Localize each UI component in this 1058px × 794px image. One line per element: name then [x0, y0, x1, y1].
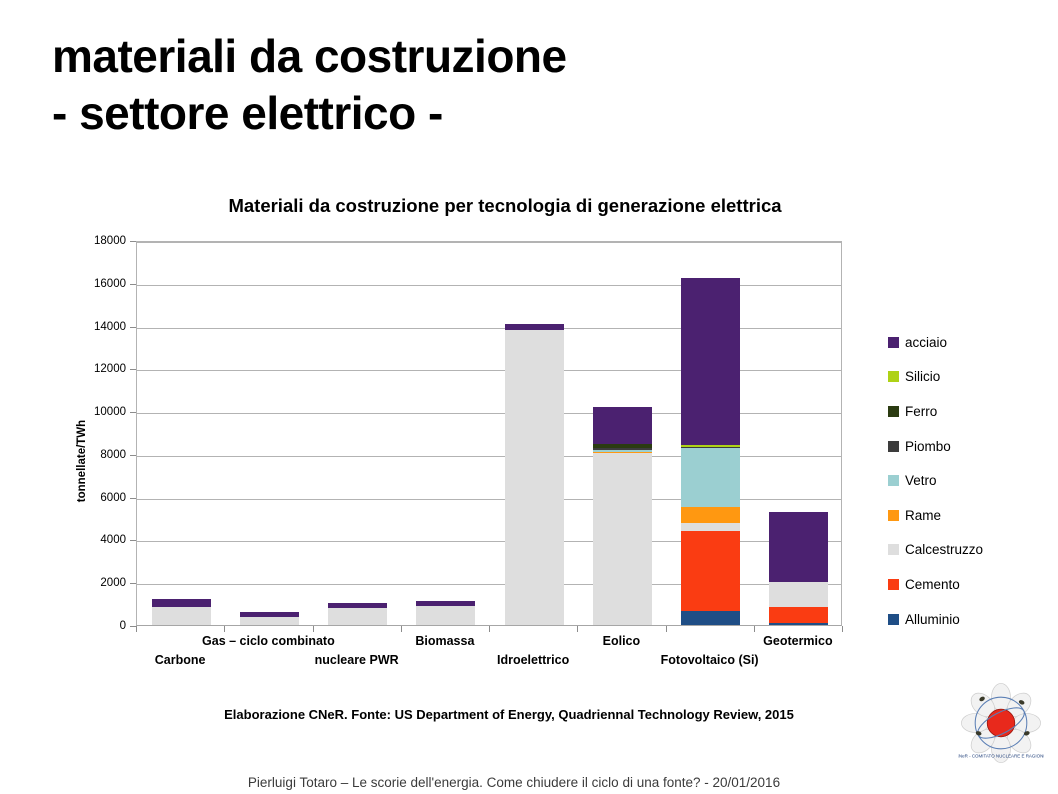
x-axis-label-eolico: Eolico: [603, 634, 641, 648]
legend-item-label: Vetro: [905, 473, 937, 488]
legend-swatch-icon: [888, 510, 899, 521]
legend-swatch-icon: [888, 371, 899, 382]
x-axis-tick-mark: [754, 626, 755, 632]
bar-segment[interactable]: [240, 617, 299, 625]
y-axis-tick-label: 6000: [66, 492, 126, 504]
page-title: materiali da costruzione - settore elett…: [52, 28, 952, 142]
legend-item-label: Rame: [905, 508, 941, 523]
legend-swatch-icon: [888, 406, 899, 417]
x-axis-label-idroelettrico: Idroelettrico: [497, 653, 569, 667]
x-axis-tick-mark: [577, 626, 578, 632]
bar-segment[interactable]: [328, 608, 387, 625]
bar-segment[interactable]: [505, 330, 564, 625]
x-axis-label-nucleare-pwr: nucleare PWR: [315, 653, 399, 667]
page-title-line-2: - settore elettrico -: [52, 85, 952, 142]
bar-segment[interactable]: [681, 448, 740, 508]
bar-stack[interactable]: [681, 278, 740, 626]
legend-item-label: Alluminio: [905, 612, 960, 627]
x-axis-tick-mark: [313, 626, 314, 632]
y-axis-tick-label: 12000: [66, 363, 126, 375]
bar-segment[interactable]: [593, 453, 652, 625]
legend-item-label: Calcestruzzo: [905, 542, 983, 557]
legend-item-label: Piombo: [905, 439, 951, 454]
y-axis-tick-label: 18000: [66, 235, 126, 247]
x-axis-tick-mark: [489, 626, 490, 632]
bar-segment[interactable]: [152, 599, 211, 607]
legend-item-label: acciaio: [905, 335, 947, 350]
legend-swatch-icon: [888, 579, 899, 590]
legend-item-silicio[interactable]: Silicio: [888, 360, 1058, 395]
svg-text:CNeR - COMITATO NUCLEARE E RAG: CNeR - COMITATO NUCLEARE E RAGIONE: [958, 753, 1044, 758]
bar-segment[interactable]: [681, 278, 740, 446]
x-axis-tick-mark: [136, 626, 137, 632]
x-axis-tick-mark: [666, 626, 667, 632]
x-axis-tick-mark: [401, 626, 402, 632]
bar-segment[interactable]: [681, 531, 740, 611]
chart-container: Materiali da costruzione per tecnologia …: [0, 185, 1058, 745]
x-axis-label-geotermico: Geotermico: [763, 634, 832, 648]
bar-segment[interactable]: [769, 512, 828, 583]
bar-stack[interactable]: [152, 599, 211, 625]
legend-item-alluminio[interactable]: Alluminio: [888, 602, 1058, 637]
legend-item-label: Ferro: [905, 404, 937, 419]
bar-segment[interactable]: [593, 407, 652, 444]
bar-stack[interactable]: [240, 612, 299, 625]
legend-item-label: Cemento: [905, 577, 960, 592]
legend-item-rame[interactable]: Rame: [888, 498, 1058, 533]
chart-title: Materiali da costruzione per tecnologia …: [0, 195, 1058, 217]
legend-item-calcestruzzo[interactable]: Calcestruzzo: [888, 533, 1058, 568]
x-axis-label-fotovoltaico-si: Fotovoltaico (Si): [661, 653, 759, 667]
legend-swatch-icon: [888, 544, 899, 555]
y-axis-tick-label: 0: [66, 620, 126, 632]
x-axis-tick-mark: [224, 626, 225, 632]
bar-segment[interactable]: [681, 611, 740, 625]
legend-item-acciaio[interactable]: acciaio: [888, 325, 1058, 360]
y-axis-tick-label: 8000: [66, 449, 126, 461]
bar-stack[interactable]: [505, 324, 564, 625]
x-axis-label-gas-ciclo-combinato: Gas – ciclo combinato: [202, 634, 335, 648]
legend-swatch-icon: [888, 475, 899, 486]
bar-segment[interactable]: [769, 582, 828, 607]
cner-daisy-logo: CNeR - COMITATO NUCLEARE E RAGIONE: [958, 680, 1044, 766]
chart-legend: acciaioSilicioFerroPiomboVetroRameCalces…: [888, 325, 1058, 636]
y-axis-title: tonnellate/TWh: [76, 371, 88, 551]
bar-segment[interactable]: [769, 607, 828, 623]
bar-segment[interactable]: [769, 623, 828, 625]
bar-stack[interactable]: [769, 512, 828, 625]
legend-swatch-icon: [888, 337, 899, 348]
gridline: [137, 242, 841, 243]
bar-segment[interactable]: [681, 507, 740, 523]
legend-item-piombo[interactable]: Piombo: [888, 429, 1058, 464]
y-axis-tick-label: 4000: [66, 534, 126, 546]
bar-segment[interactable]: [681, 523, 740, 530]
page-title-line-1: materiali da costruzione: [52, 28, 952, 85]
legend-item-label: Silicio: [905, 369, 940, 384]
y-axis-tick-label: 2000: [66, 577, 126, 589]
bar-stack[interactable]: [593, 407, 652, 625]
slide-footer: Pierluigi Totaro – Le scorie dell'energi…: [0, 775, 1058, 790]
y-axis-tick-label: 16000: [66, 278, 126, 290]
bar-stack[interactable]: [328, 603, 387, 625]
legend-swatch-icon: [888, 441, 899, 452]
source-note: Elaborazione CNeR. Fonte: US Department …: [0, 707, 1058, 722]
legend-item-vetro[interactable]: Vetro: [888, 463, 1058, 498]
y-axis-tick-label: 14000: [66, 321, 126, 333]
plot-area: [136, 241, 842, 626]
bar-stack[interactable]: [416, 601, 475, 625]
bar-segment[interactable]: [416, 606, 475, 625]
x-axis-label-carbone: Carbone: [155, 653, 206, 667]
x-axis-label-biomassa: Biomassa: [415, 634, 474, 648]
legend-swatch-icon: [888, 614, 899, 625]
x-axis-tick-mark: [842, 626, 843, 632]
bar-segment[interactable]: [152, 607, 211, 625]
y-axis-tick-label: 10000: [66, 406, 126, 418]
legend-item-ferro[interactable]: Ferro: [888, 394, 1058, 429]
legend-item-cemento[interactable]: Cemento: [888, 567, 1058, 602]
